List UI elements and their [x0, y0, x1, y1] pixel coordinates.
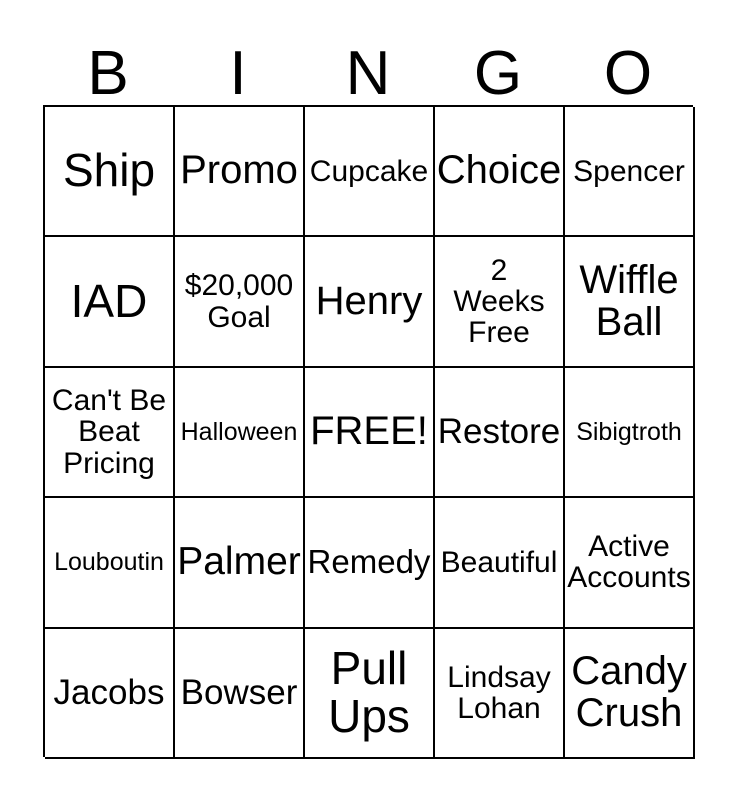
bingo-cell-r5-c3[interactable]: Pull Ups [305, 629, 435, 759]
bingo-cell-label: Ship [46, 147, 172, 195]
bingo-cell-r4-c2[interactable]: Palmer [175, 498, 305, 628]
bingo-cell-r3-c4[interactable]: Restore [435, 368, 565, 498]
bingo-cell-label: Candy Crush [566, 651, 692, 734]
bingo-cell-r1-c3[interactable]: Cupcake [305, 107, 435, 237]
bingo-cell-label: Beautiful [436, 547, 562, 578]
bingo-cell-r3-c3[interactable]: FREE! [305, 368, 435, 498]
bingo-cell-label: Halloween [176, 419, 302, 445]
bingo-cell-label: Pull Ups [306, 645, 432, 741]
header-letter-g: G [433, 43, 563, 105]
bingo-cell-r2-c1[interactable]: IAD [45, 237, 175, 367]
bingo-cell-r2-c3[interactable]: Henry [305, 237, 435, 367]
bingo-cell-r3-c2[interactable]: Halloween [175, 368, 305, 498]
bingo-cell-label: Sibigtroth [566, 419, 692, 445]
bingo-cell-label: Restore [436, 414, 562, 450]
bingo-cell-label: Palmer [176, 542, 302, 583]
bingo-cell-label: Spencer [566, 156, 692, 187]
bingo-cell-label: Remedy [306, 545, 432, 579]
bingo-cell-label: 2 Weeks Free [436, 255, 562, 349]
bingo-cell-r4-c3[interactable]: Remedy [305, 498, 435, 628]
bingo-cell-r2-c2[interactable]: $20,000 Goal [175, 237, 305, 367]
bingo-cell-r5-c2[interactable]: Bowser [175, 629, 305, 759]
bingo-cell-r2-c5[interactable]: Wiffle Ball [565, 237, 695, 367]
bingo-cell-label: Lindsay Lohan [436, 662, 562, 724]
bingo-cell-r5-c4[interactable]: Lindsay Lohan [435, 629, 565, 759]
header-letter-o: O [563, 43, 693, 105]
bingo-cell-r1-c5[interactable]: Spencer [565, 107, 695, 237]
header-letter-i: I [173, 43, 303, 105]
bingo-cell-r4-c1[interactable]: Louboutin [45, 498, 175, 628]
bingo-cell-label: $20,000 Goal [176, 270, 302, 332]
header-letter-n: N [303, 43, 433, 105]
bingo-cell-label: Active Accounts [566, 531, 692, 593]
bingo-cell-label: Louboutin [46, 549, 172, 575]
bingo-cell-label: Henry [306, 281, 432, 323]
bingo-cell-label: Cupcake [306, 156, 432, 187]
bingo-cell-r1-c2[interactable]: Promo [175, 107, 305, 237]
header-letter-b: B [43, 43, 173, 105]
bingo-cell-label: Wiffle Ball [566, 260, 692, 343]
bingo-cell-r4-c5[interactable]: Active Accounts [565, 498, 695, 628]
bingo-cell-label: FREE! [306, 411, 432, 453]
bingo-cell-r1-c4[interactable]: Choice [435, 107, 565, 237]
bingo-cell-label: Choice [436, 150, 562, 192]
bingo-cell-label: Promo [176, 150, 302, 192]
bingo-cell-r2-c4[interactable]: 2 Weeks Free [435, 237, 565, 367]
bingo-header: B I N G O [43, 20, 693, 105]
bingo-cell-label: IAD [46, 278, 172, 326]
bingo-grid: ShipPromoCupcakeChoiceSpencerIAD$20,000 … [43, 105, 693, 757]
bingo-cell-r3-c5[interactable]: Sibigtroth [565, 368, 695, 498]
bingo-card: B I N G O ShipPromoCupcakeChoiceSpencerI… [0, 0, 736, 800]
bingo-cell-label: Jacobs [46, 675, 172, 711]
bingo-cell-label: Can't Be Beat Pricing [46, 385, 172, 479]
bingo-cell-r5-c5[interactable]: Candy Crush [565, 629, 695, 759]
bingo-cell-r4-c4[interactable]: Beautiful [435, 498, 565, 628]
bingo-cell-label: Bowser [176, 675, 302, 711]
bingo-cell-r3-c1[interactable]: Can't Be Beat Pricing [45, 368, 175, 498]
bingo-cell-r1-c1[interactable]: Ship [45, 107, 175, 237]
bingo-cell-r5-c1[interactable]: Jacobs [45, 629, 175, 759]
